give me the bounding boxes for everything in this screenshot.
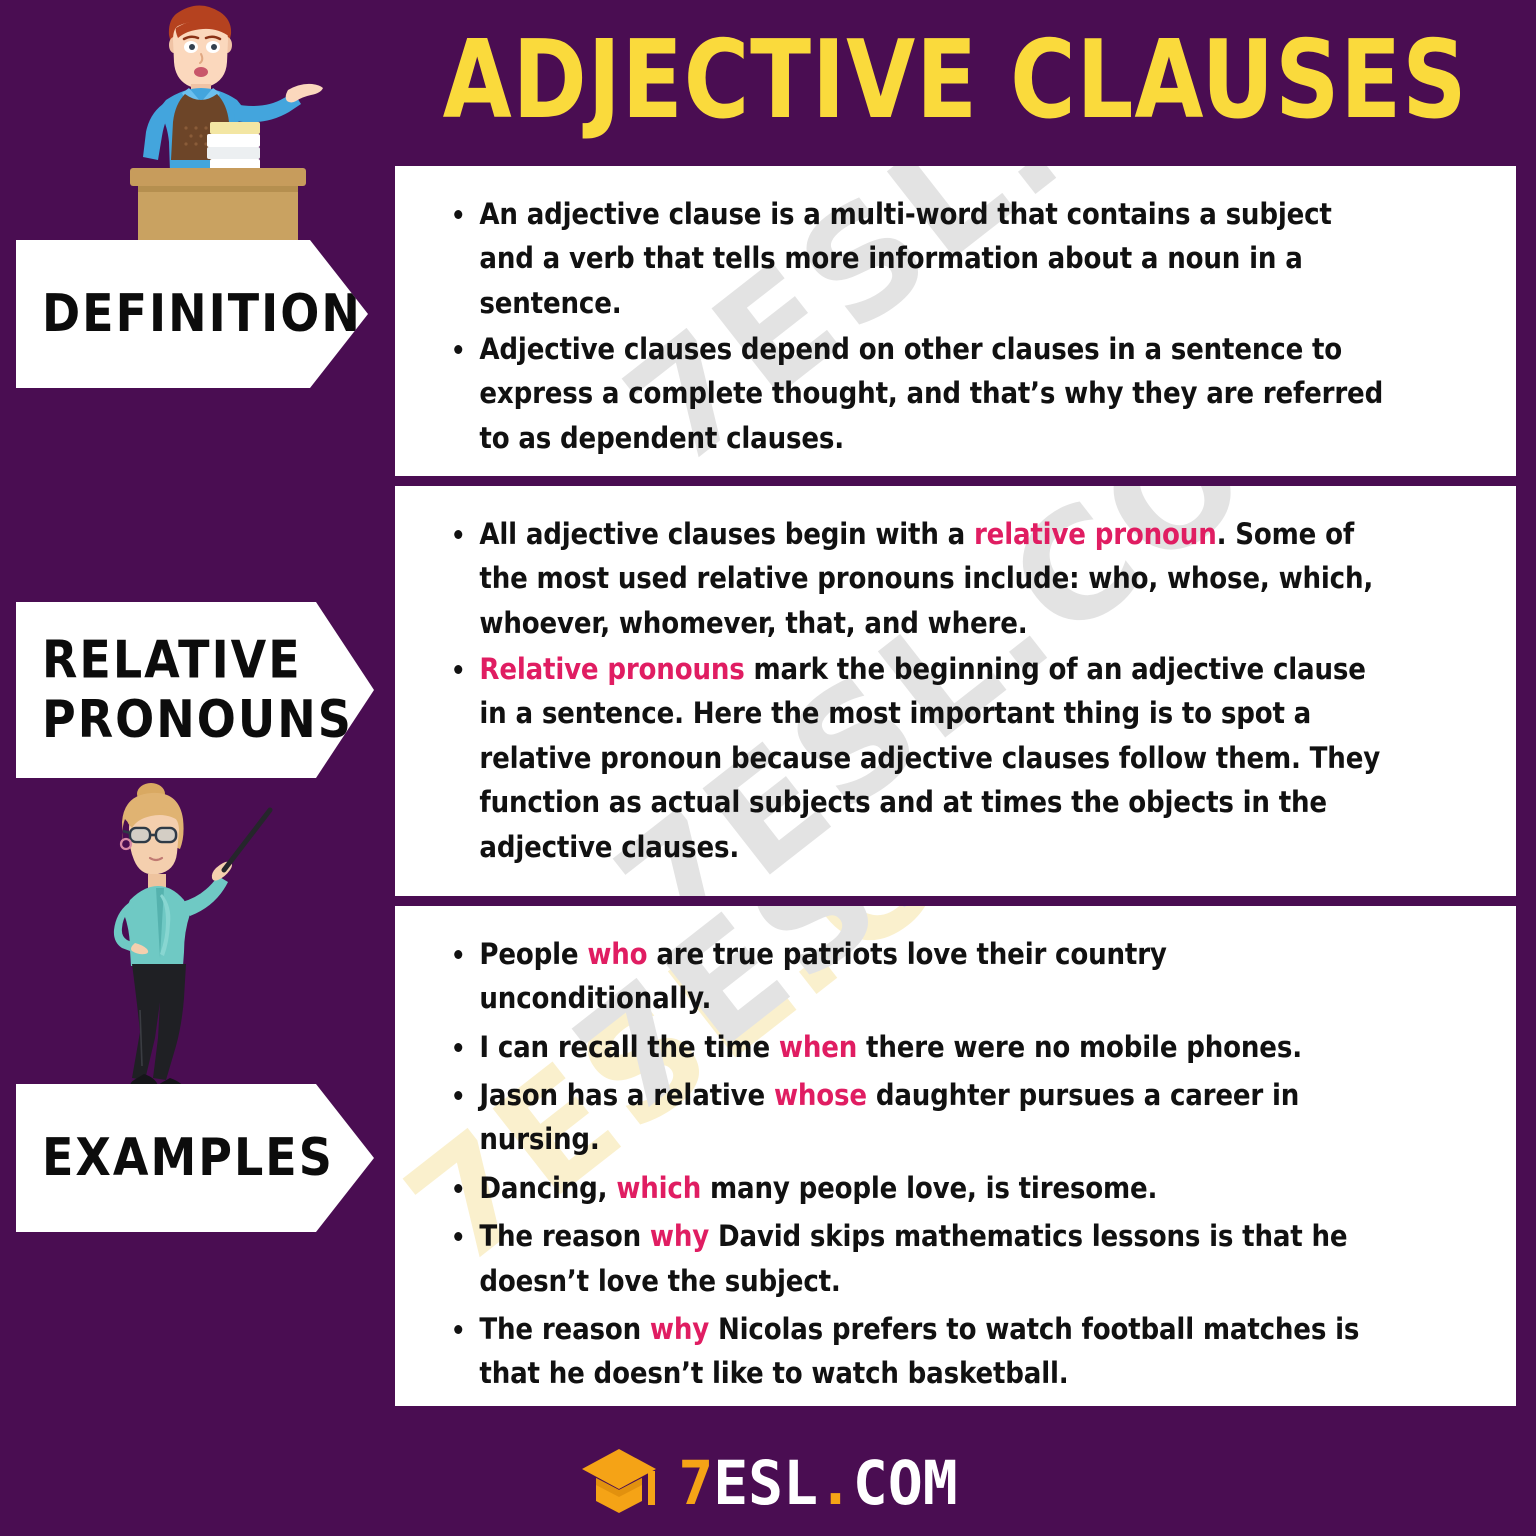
bullet-text: People [479,937,587,971]
logo-part: ESL [713,1447,818,1518]
highlighted-pronoun: why [650,1219,709,1253]
bullet-item: Weddings, which are hosted in secluded a… [447,1400,1384,1406]
bullet-text: Jason has a relative [479,1078,774,1112]
title-bar: ADJECTIVE CLAUSES [395,10,1516,150]
bullet-text: All adjective clauses begin with a [479,517,974,551]
logo-part: 7 [678,1447,713,1518]
section-tag-relative-pronouns-label: RELATIVE PRONOUNS [42,630,353,750]
highlighted-pronoun: when [779,1030,857,1064]
section-tag-definition-label: DEFINITION [42,284,362,344]
graduation-cap-icon [578,1445,660,1522]
bullet-item: All adjective clauses begin with a relat… [447,512,1384,645]
bullet-item: The reason why David skips mathematics l… [447,1214,1384,1303]
bullet-item: I can recall the time when there were no… [447,1025,1384,1069]
examples-bullet-list: People who are true patriots love their … [447,932,1488,1406]
bullet-text: An adjective clause is a multi-word that… [479,197,1331,320]
relative-pronouns-panel: 7ESL.COM All adjective clauses begin wit… [395,486,1516,896]
logo-part: . [818,1447,853,1518]
footer: 7ESL.COM [0,1430,1536,1536]
highlighted-pronoun: relative pronoun [974,517,1217,551]
bullet-text: there were no mobile phones. [857,1030,1302,1064]
teacher-male-icon [88,0,378,245]
bullet-item: Adjective clauses depend on other clause… [447,327,1384,460]
bullet-text: Dancing, [479,1171,616,1205]
bullet-text: many people love, is tiresome. [701,1171,1157,1205]
highlighted-pronoun: why [650,1312,709,1346]
highlighted-pronoun: whose [774,1078,867,1112]
section-tag-relative-pronouns: RELATIVE PRONOUNS [16,602,374,778]
bullet-item: An adjective clause is a multi-word that… [447,192,1384,325]
highlighted-pronoun: which [616,1171,701,1205]
bullet-item: The reason why Nicolas prefers to watch … [447,1307,1384,1396]
site-logo-text: 7ESL.COM [678,1453,957,1514]
bullet-text: The reason [479,1312,650,1346]
highlighted-pronoun: Relative pronouns [479,652,744,686]
examples-panel: 7ESL.COM 7ESL.COM People who are true pa… [395,906,1516,1406]
bullet-text: Adjective clauses depend on other clause… [479,332,1383,455]
relative-pronouns-bullet-list: All adjective clauses begin with a relat… [447,512,1488,869]
bullet-text: Weddings, [479,1405,641,1406]
teacher-female-illustration [78,778,308,1098]
highlighted-pronoun: who [587,937,647,971]
bullet-item: People who are true patriots love their … [447,932,1384,1021]
section-tag-definition: DEFINITION [16,240,368,388]
bullet-item: Relative pronouns mark the beginning of … [447,647,1384,869]
page-title: ADJECTIVE CLAUSES [443,26,1468,134]
section-tag-examples: EXAMPLES [16,1084,374,1232]
section-tag-examples-label: EXAMPLES [42,1128,334,1188]
definition-panel: 7ESL.COM An adjective clause is a multi-… [395,166,1516,476]
teacher-male-illustration [88,0,378,245]
bullet-text: I can recall the time [479,1030,778,1064]
teacher-female-icon [78,778,308,1098]
bullet-item: Dancing, which many people love, is tire… [447,1166,1384,1210]
logo-part: COM [853,1447,958,1518]
bullet-text: The reason [479,1219,650,1253]
highlighted-pronoun: which [641,1405,726,1406]
infographic-root: ADJECTIVE CLAUSES [0,0,1536,1536]
bullet-item: Jason has a relative whose daughter purs… [447,1073,1384,1162]
definition-bullet-list: An adjective clause is a multi-word that… [447,192,1488,460]
